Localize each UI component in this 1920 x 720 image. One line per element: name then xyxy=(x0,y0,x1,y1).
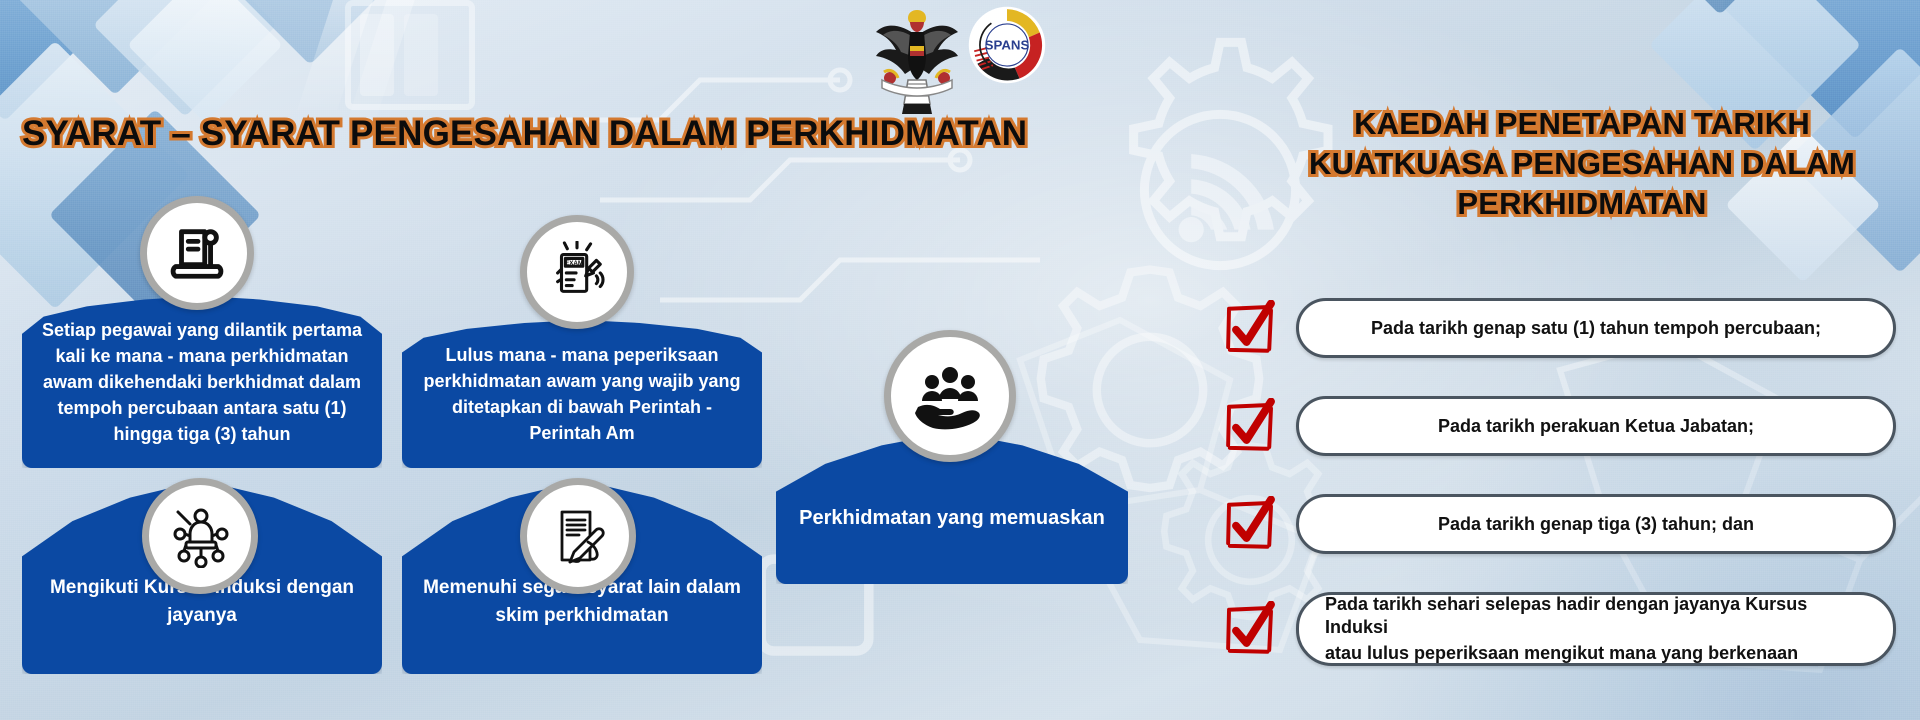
condition-card-text: Perkhidmatan yang memuaskan xyxy=(799,482,1105,533)
decor-ribbon xyxy=(297,0,382,110)
check-item-2[interactable]: Pada tarikh perakuan Ketua Jabatan; xyxy=(1222,396,1896,456)
check-item-text: atau lulus peperiksaan mengikut mana yan… xyxy=(1325,642,1798,665)
contract-document-icon xyxy=(166,222,228,284)
spans-logo: SPANS xyxy=(968,6,1046,84)
check-item-4[interactable]: Pada tarikh sehari selepas hadir dengan … xyxy=(1222,592,1896,666)
right-section-title: KAEDAH PENETAPAN TARIKH KUATKUASA PENGES… xyxy=(1262,104,1902,224)
check-item-text: Pada tarikh perakuan Ketua Jabatan; xyxy=(1438,415,1754,438)
training-presentation-icon xyxy=(168,504,232,568)
condition-card-appointment[interactable]: Setiap pegawai yang dilantik pertama kal… xyxy=(22,296,382,468)
decor-diamond xyxy=(0,0,235,95)
check-item-pill[interactable]: Pada tarikh sehari selepas hadir dengan … xyxy=(1296,592,1896,666)
condition-card-text: Lulus mana - mana peperiksaan perkhidmat… xyxy=(416,342,748,446)
check-item-text: Pada tarikh genap satu (1) tahun tempoh … xyxy=(1371,317,1821,340)
condition-card-exam[interactable]: Lulus mana - mana peperiksaan perkhidmat… xyxy=(402,320,762,468)
decor-ribbon xyxy=(348,0,425,120)
condition-icon-circle xyxy=(142,478,258,594)
check-item-pill[interactable]: Pada tarikh perakuan Ketua Jabatan; xyxy=(1296,396,1896,456)
hand-holding-people-icon xyxy=(913,359,987,433)
decor-diamond xyxy=(225,0,395,65)
header-logos: SPANS xyxy=(874,6,1046,118)
decor-diamond xyxy=(1635,0,1805,15)
decor-document-outline xyxy=(404,14,438,96)
check-item-3[interactable]: Pada tarikh genap tiga (3) tahun; dan xyxy=(1222,494,1896,554)
decor-diamond xyxy=(93,0,277,117)
condition-icon-circle xyxy=(884,330,1016,462)
red-check-icon[interactable] xyxy=(1222,496,1278,552)
red-check-icon[interactable] xyxy=(1222,601,1278,657)
decor-document-outline xyxy=(360,14,394,96)
left-section-title: SYARAT – SYARAT PENGESAHAN DALAM PERKHID… xyxy=(22,112,1027,156)
condition-icon-circle: EXAM xyxy=(520,215,634,329)
check-item-1[interactable]: Pada tarikh genap satu (1) tahun tempoh … xyxy=(1222,298,1896,358)
red-check-icon[interactable] xyxy=(1222,398,1278,454)
check-item-text: Pada tarikh genap tiga (3) tahun; dan xyxy=(1438,513,1754,536)
condition-icon-circle xyxy=(520,478,636,594)
check-item-text: Pada tarikh sehari selepas hadir dengan … xyxy=(1325,593,1867,638)
check-item-pill[interactable]: Pada tarikh genap satu (1) tahun tempoh … xyxy=(1296,298,1896,358)
spans-logo-text: SPANS xyxy=(985,38,1030,53)
check-item-pill[interactable]: Pada tarikh genap tiga (3) tahun; dan xyxy=(1296,494,1896,554)
exam-checklist-icon: EXAM xyxy=(546,241,608,303)
svg-text:EXAM: EXAM xyxy=(565,260,583,267)
sarawak-crest-logo xyxy=(874,6,960,118)
decor-document-outline xyxy=(345,0,475,110)
decor-diamond xyxy=(0,0,111,121)
red-check-icon[interactable] xyxy=(1222,300,1278,356)
decor-diamond xyxy=(127,0,283,123)
condition-icon-circle xyxy=(140,196,254,310)
signature-document-icon xyxy=(546,504,610,568)
condition-card-text: Setiap pegawai yang dilantik pertama kal… xyxy=(36,317,368,447)
infographic-canvas: SPANS SYARAT – SYARAT PENGESAHAN DALAM P… xyxy=(0,0,1920,720)
